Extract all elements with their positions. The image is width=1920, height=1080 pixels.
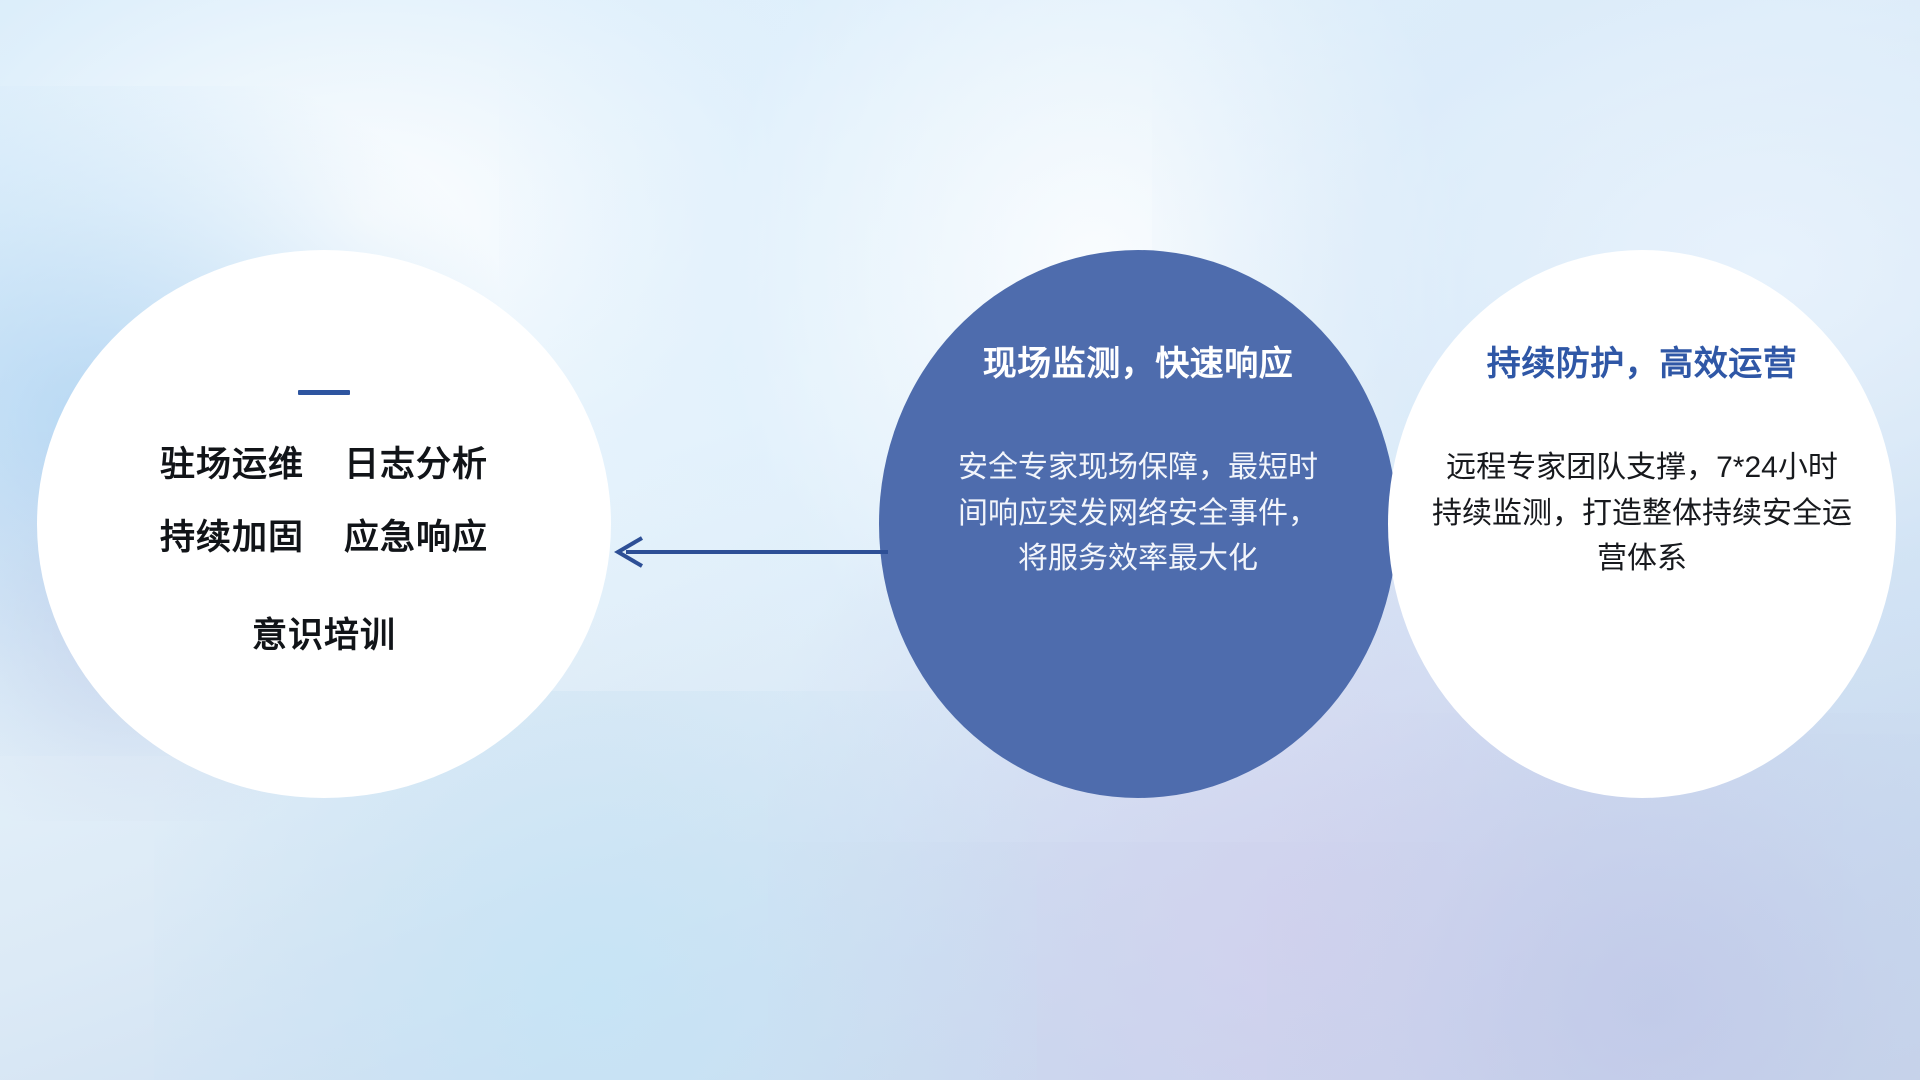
circle-node-onsite-capabilities[interactable]: 驻场运维 日志分析 持续加固 应急响应 意识培训 <box>37 250 611 798</box>
capability-tag: 日志分析 <box>344 447 488 482</box>
capability-tag: 持续加固 <box>160 520 304 555</box>
circle-node-continuous-operation[interactable]: 持续防护，高效运营 远程专家团队支撑，7*24小时持续监测，打造整体持续安全运营… <box>1388 250 1896 798</box>
diagram-canvas: 驻场运维 日志分析 持续加固 应急响应 意识培训 现场监测，快速响应 安全专家现… <box>0 0 1920 1080</box>
node-title: 现场监测，快速响应 <box>983 336 1294 385</box>
node-title: 持续防护，高效运营 <box>1487 336 1798 385</box>
title-divider-bar <box>298 390 350 395</box>
circle-node-onsite-monitoring[interactable]: 现场监测，快速响应 安全专家现场保障，最短时间响应突发网络安全事件，将服务效率最… <box>879 250 1397 798</box>
capability-tag: 意识培训 <box>252 607 396 658</box>
node-description: 远程专家团队支撑，7*24小时持续监测，打造整体持续安全运营体系 <box>1432 445 1852 582</box>
capability-tag: 驻场运维 <box>160 447 304 482</box>
flow-connector-arrow <box>600 520 890 589</box>
node-description: 安全专家现场保障，最短时间响应突发网络安全事件，将服务效率最大化 <box>948 445 1328 582</box>
arrow-left-icon <box>600 520 890 584</box>
capability-tag: 应急响应 <box>344 520 488 555</box>
capability-tag-row: 持续加固 应急响应 <box>160 520 488 555</box>
capability-tag-row: 驻场运维 日志分析 <box>160 447 488 482</box>
